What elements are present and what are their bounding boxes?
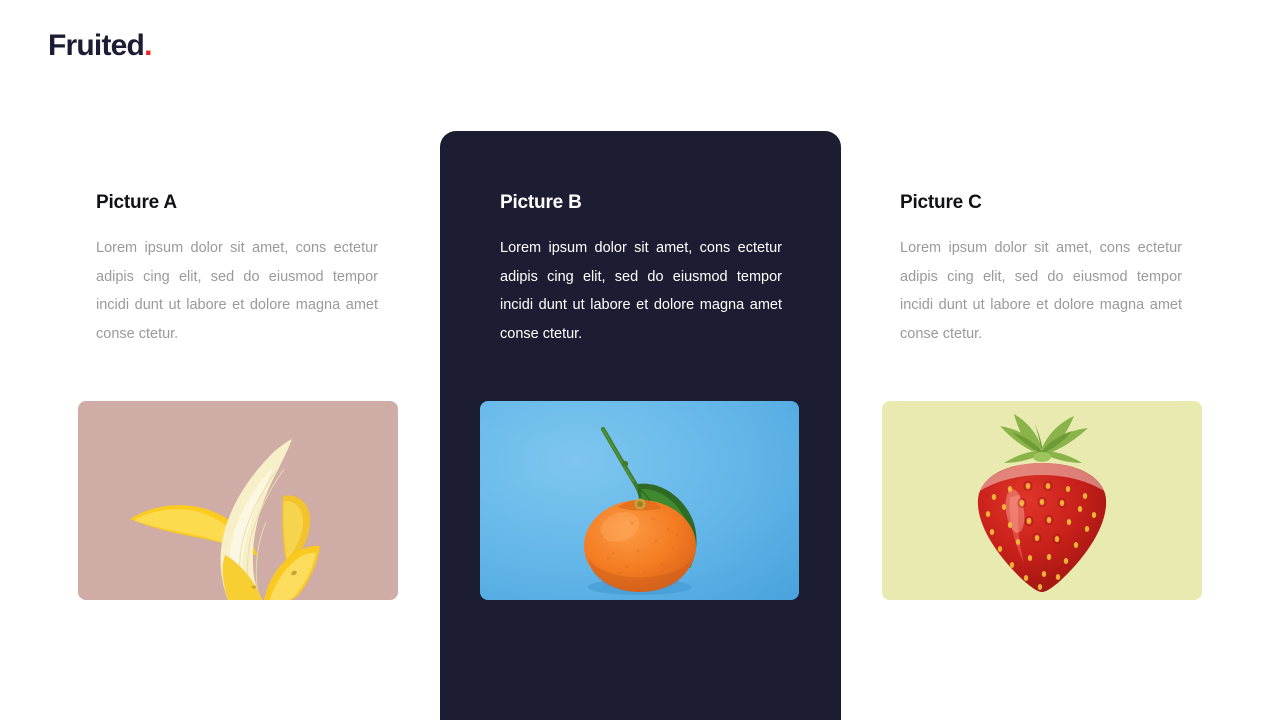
mandarin-photo[interactable]: [480, 401, 799, 600]
card-a-title: Picture A: [96, 190, 416, 216]
slide-canvas: Fruited. Picture A Lorem ipsum dolor sit…: [0, 0, 1280, 720]
strawberry-photo[interactable]: [882, 401, 1202, 600]
banana-photo[interactable]: [78, 401, 398, 600]
mandarin-illustration: [480, 401, 799, 600]
strawberry-illustration: [882, 401, 1202, 600]
card-b-title: Picture B: [500, 190, 820, 216]
card-b-body: Lorem ipsum dolor sit amet, cons ectetur…: [500, 234, 782, 348]
banana-illustration: [78, 401, 398, 600]
card-c[interactable]: Picture C Lorem ipsum dolor sit amet, co…: [900, 190, 1220, 348]
card-a[interactable]: Picture A Lorem ipsum dolor sit amet, co…: [96, 190, 416, 348]
card-c-title: Picture C: [900, 190, 1220, 216]
brand-name: Fruited: [48, 28, 144, 64]
card-b[interactable]: Picture B Lorem ipsum dolor sit amet, co…: [500, 190, 820, 348]
card-a-body: Lorem ipsum dolor sit amet, cons ectetur…: [96, 234, 378, 348]
card-c-body: Lorem ipsum dolor sit amet, cons ectetur…: [900, 234, 1182, 348]
brand-dot: .: [144, 28, 152, 64]
brand-logo[interactable]: Fruited.: [48, 28, 152, 64]
